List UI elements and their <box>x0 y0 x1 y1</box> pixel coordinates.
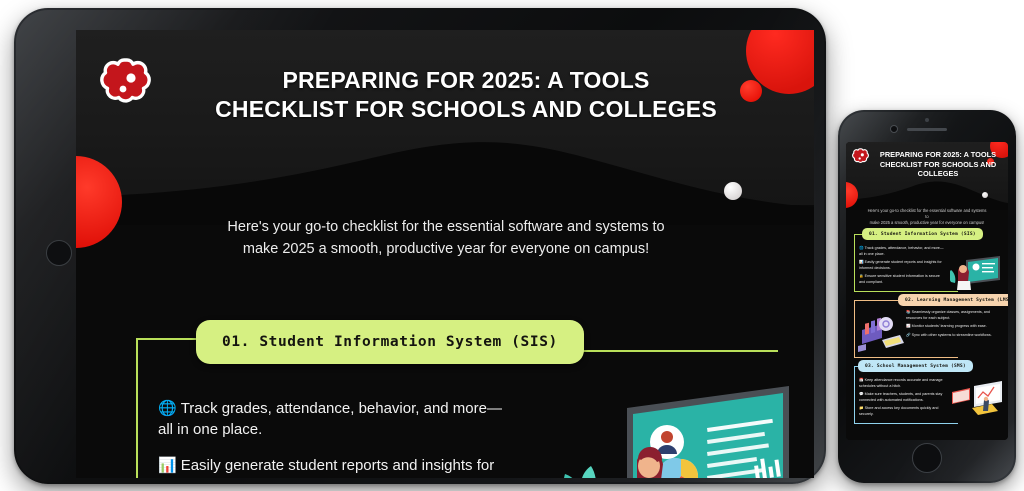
mobile-section-03-illustration <box>950 378 1008 420</box>
decorative-white-dot <box>724 182 742 200</box>
mobile-section-02-bullet-list: 📚 Seamlessly organize classes, assignmen… <box>906 310 998 341</box>
globe-icon: 🌐 <box>158 400 177 417</box>
tablet-home-button[interactable] <box>46 240 72 266</box>
phone-home-button[interactable] <box>912 443 942 473</box>
phone-sensor-icon <box>925 118 929 122</box>
mobile-section-03-bullet-list: 📅 Keep attendance records accurate and m… <box>859 378 947 420</box>
list-item: 📅 Keep attendance records accurate and m… <box>859 378 947 389</box>
phone-mockup: PREPARING FOR 2025: A TOOLS CHECKLIST FO… <box>838 110 1016 483</box>
page-subtitle-line2: make 2025 a smooth, productive year for … <box>196 238 696 260</box>
mobile-page-subtitle-line2: make 2025 a smooth, productive year for … <box>866 220 988 226</box>
calendar-icon: 📅 <box>859 378 864 382</box>
list-item: 🔗 Sync with other systems to streamline … <box>906 333 998 339</box>
mobile-section-01-illustration <box>950 250 1008 290</box>
page-title: PREPARING FOR 2025: A TOOLS CHECKLIST FO… <box>186 66 746 125</box>
list-item-text: Make sure teachers, students, and parent… <box>859 392 942 402</box>
page-subtitle-line1: Here's your go-to checklist for the esse… <box>196 216 696 238</box>
list-item: 📚 Seamlessly organize classes, assignmen… <box>906 310 998 321</box>
hero-wave-divider <box>76 135 814 225</box>
mobile-page-subtitle: Here's your go-to checklist for the esse… <box>866 208 988 226</box>
bar-chart-icon: 📊 <box>158 457 177 474</box>
lock-icon: 🔒 <box>859 274 864 278</box>
list-item-text: Keep attendance records accurate and man… <box>859 378 943 388</box>
mobile-section-02-illustration <box>856 312 908 354</box>
section-01-badge[interactable]: 01. Student Information System (SIS) <box>196 320 584 364</box>
tablet-mockup: PREPARING FOR 2025: A TOOLS CHECKLIST FO… <box>14 8 826 484</box>
infographic-page-mobile: PREPARING FOR 2025: A TOOLS CHECKLIST FO… <box>846 142 1008 440</box>
section-01: 01. Student Information System (SIS) 🌐Tr… <box>136 306 814 478</box>
list-item: 💬 Make sure teachers, students, and pare… <box>859 392 947 403</box>
mobile-decorative-white-dot <box>982 192 988 198</box>
mockup-stage: PREPARING FOR 2025: A TOOLS CHECKLIST FO… <box>0 0 1024 491</box>
section-01-connector-line <box>578 350 778 352</box>
list-item-text: Sync with other systems to streamline wo… <box>912 333 992 337</box>
mobile-section-01-bullet-list: 🌐 Track grades, attendance, behavior, an… <box>859 246 947 288</box>
list-item: 🔒 Ensure sensitive student information i… <box>859 274 947 285</box>
mobile-page-title: PREPARING FOR 2025: A TOOLS CHECKLIST FO… <box>874 150 1002 179</box>
brand-logo-icon <box>100 58 154 108</box>
list-item-text: Track grades, attendance, behavior, and … <box>859 246 944 256</box>
phone-screen: PREPARING FOR 2025: A TOOLS CHECKLIST FO… <box>846 142 1008 440</box>
list-item: 🌐Track grades, attendance, behavior, and… <box>158 398 514 441</box>
section-01-bullet-list: 🌐Track grades, attendance, behavior, and… <box>158 398 514 478</box>
infographic-page: PREPARING FOR 2025: A TOOLS CHECKLIST FO… <box>76 30 814 478</box>
list-item-text: Track grades, attendance, behavior, and … <box>158 400 502 438</box>
list-item: 📊 Easily generate student reports and in… <box>859 260 947 271</box>
list-item-text: Store and access key documents quickly a… <box>859 406 938 416</box>
globe-icon: 🌐 <box>859 246 864 250</box>
mobile-page-subtitle-line1: Here's your go-to checklist for the esse… <box>866 208 988 220</box>
list-item-text: Easily generate student reports and insi… <box>158 457 494 478</box>
speech-icon: 💬 <box>859 392 864 396</box>
page-title-line1: PREPARING FOR 2025: A TOOLS <box>186 66 746 95</box>
mobile-page-title-line1: PREPARING FOR 2025: A TOOLS <box>874 150 1002 160</box>
tablet-screen: PREPARING FOR 2025: A TOOLS CHECKLIST FO… <box>76 30 814 478</box>
section-01-illustration <box>541 362 814 478</box>
list-item-text: Seamlessly organize classes, assignments… <box>906 310 990 320</box>
page-subtitle: Here's your go-to checklist for the esse… <box>196 216 696 261</box>
list-item: 📈 Monitor students' learning progress wi… <box>906 324 998 330</box>
page-title-line2: CHECKLIST FOR SCHOOLS AND COLLEGES <box>186 95 746 124</box>
phone-speaker-icon <box>907 128 947 131</box>
folder-icon: 📁 <box>859 406 864 410</box>
mobile-section-03-badge[interactable]: 03. School Management System (SMS) <box>858 360 973 372</box>
mobile-section-01-badge[interactable]: 01. Student Information System (SIS) <box>862 228 983 240</box>
phone-camera-icon <box>890 125 898 133</box>
list-item: 📊Easily generate student reports and ins… <box>158 455 514 478</box>
list-item: 🌐 Track grades, attendance, behavior, an… <box>859 246 947 257</box>
list-item: 📁 Store and access key documents quickly… <box>859 406 947 417</box>
list-item-text: Monitor students' learning progress with… <box>912 324 987 328</box>
mobile-brand-logo-icon <box>852 148 870 165</box>
list-item-text: Easily generate student reports and insi… <box>859 260 942 270</box>
mobile-page-title-line2: CHECKLIST FOR SCHOOLS AND COLLEGES <box>874 160 1002 179</box>
bar-chart-icon: 📊 <box>859 260 864 264</box>
list-item-text: Ensure sensitive student information is … <box>859 274 940 284</box>
mobile-section-02-badge[interactable]: 02. Learning Management System (LMS) <box>898 294 1008 306</box>
